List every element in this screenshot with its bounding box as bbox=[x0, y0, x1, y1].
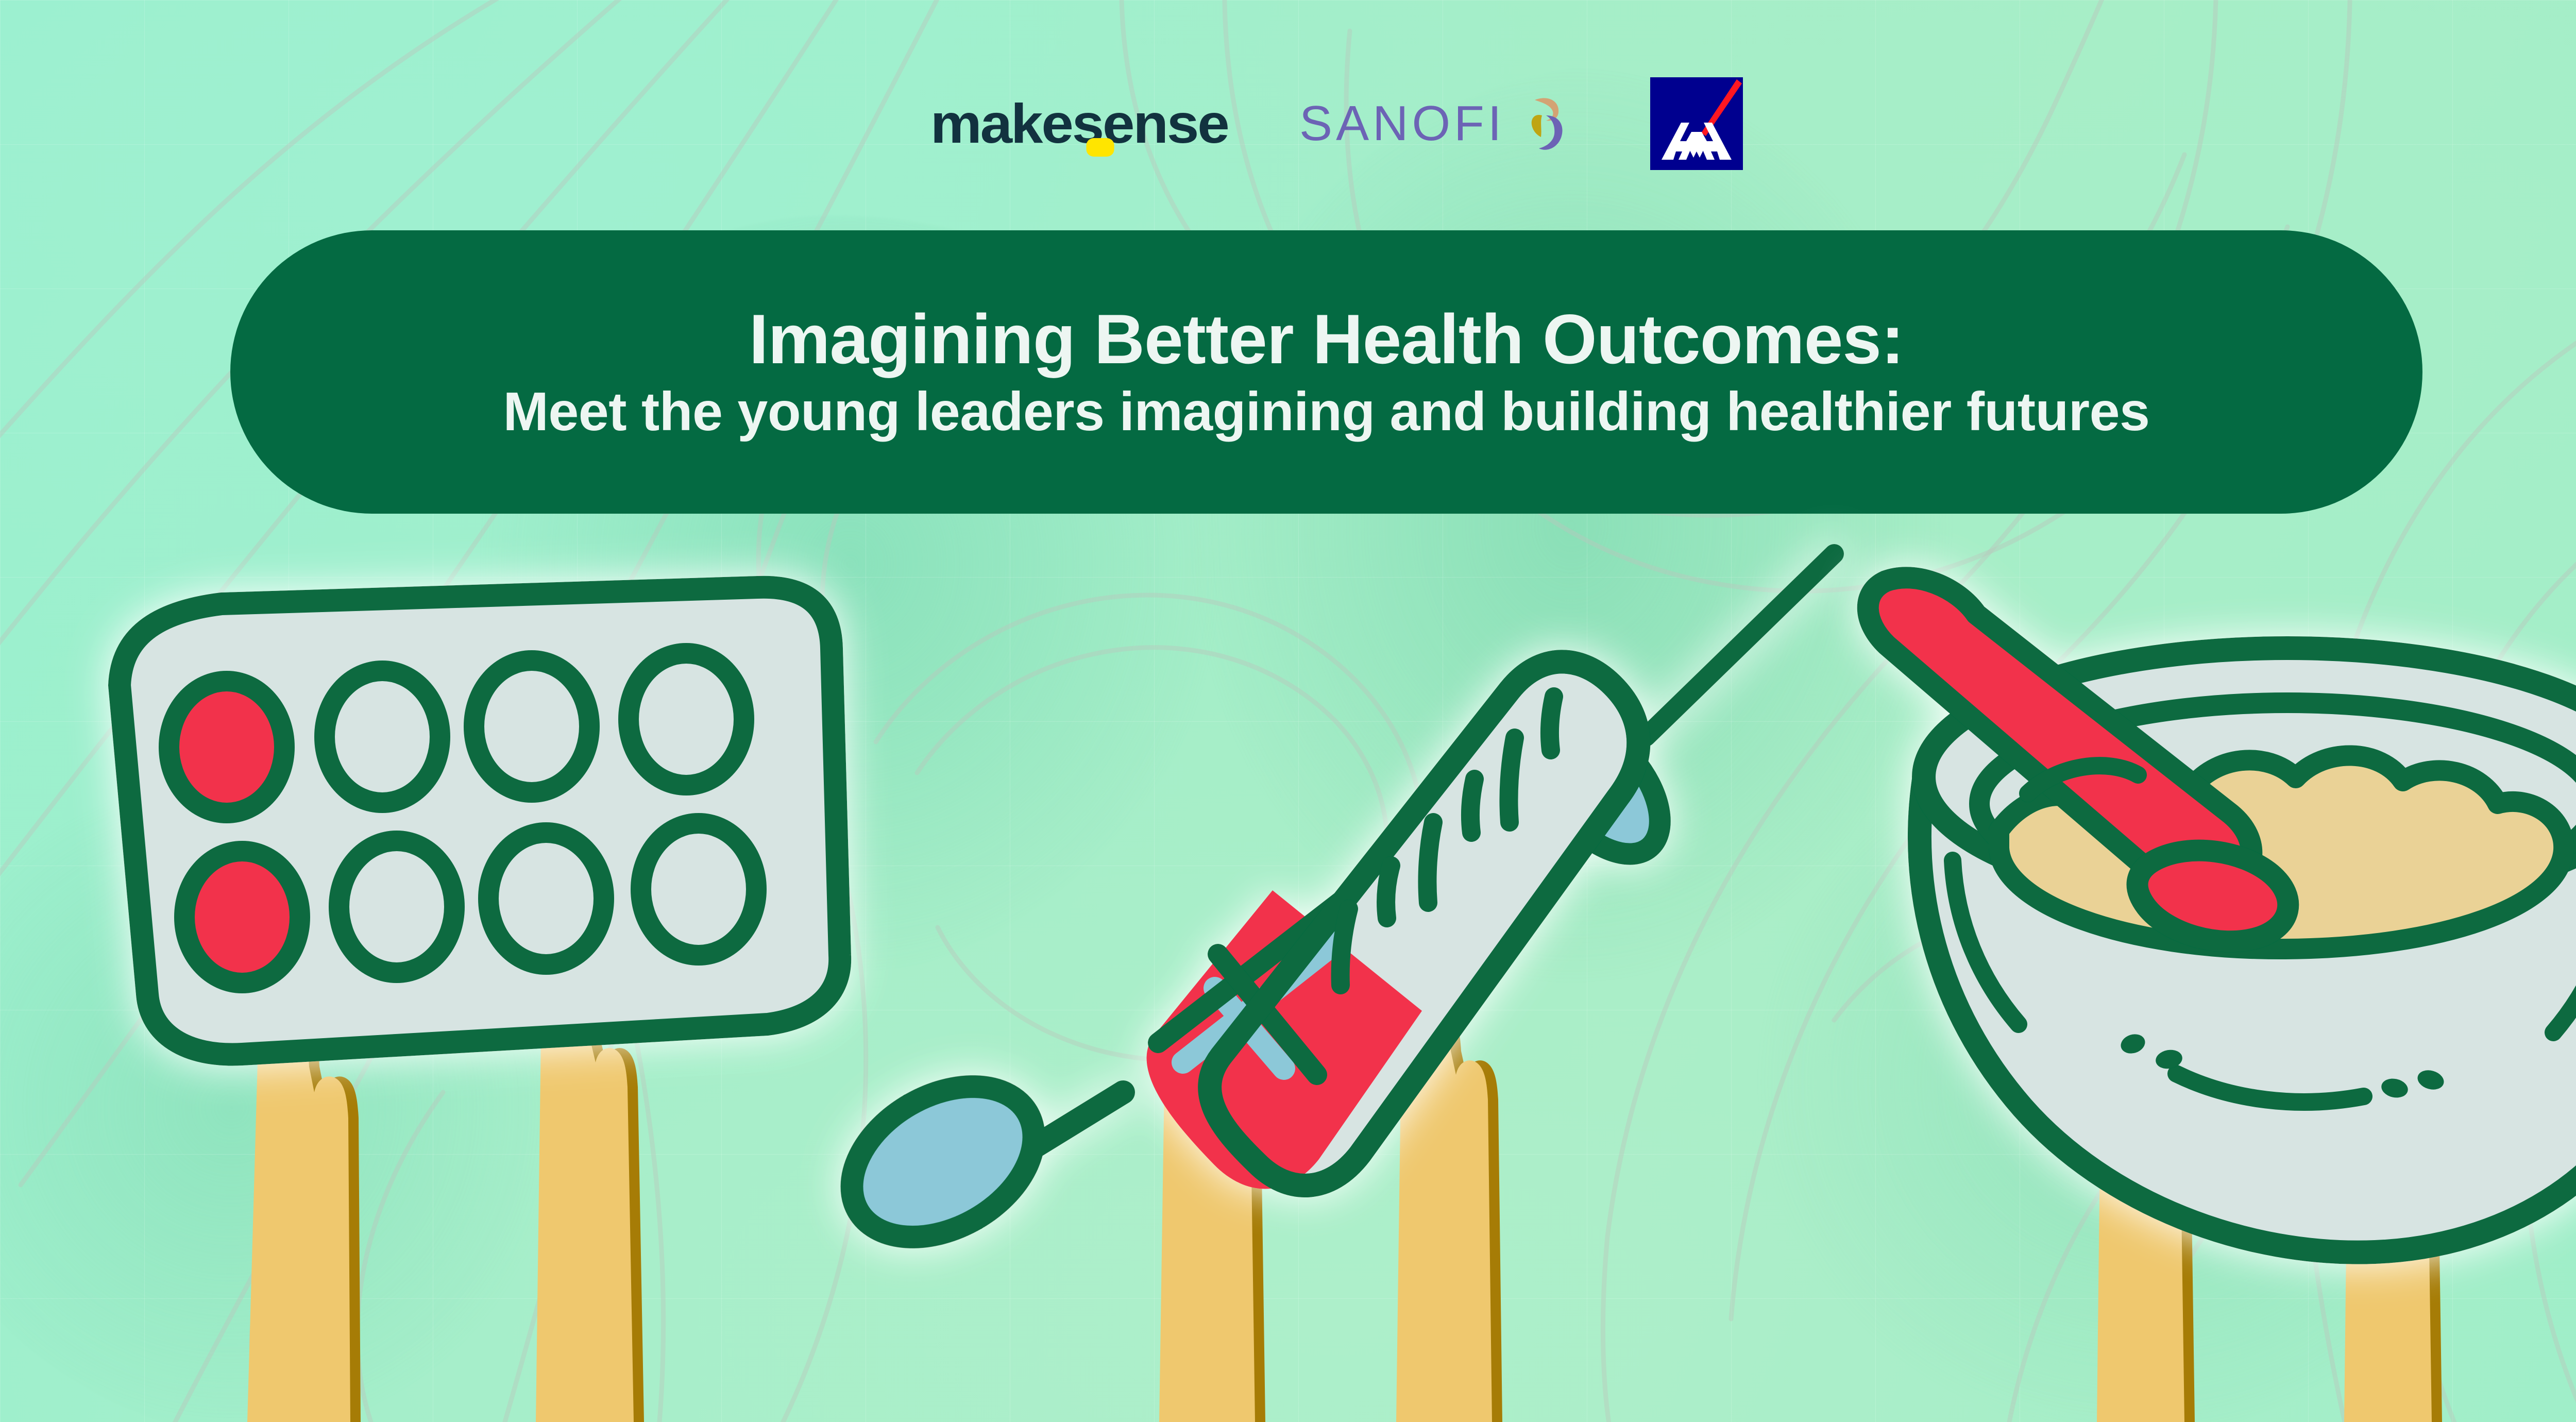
syringe bbox=[825, 554, 1834, 1268]
illustration-layer bbox=[0, 0, 2576, 1422]
pill-blister-pack bbox=[120, 587, 840, 1055]
hand-pill-left bbox=[247, 1016, 361, 1422]
hand-pill-right bbox=[536, 993, 644, 1422]
food-bowl bbox=[1868, 578, 2576, 1252]
poster-canvas: makesense SANOFI Imag bbox=[0, 0, 2576, 1422]
